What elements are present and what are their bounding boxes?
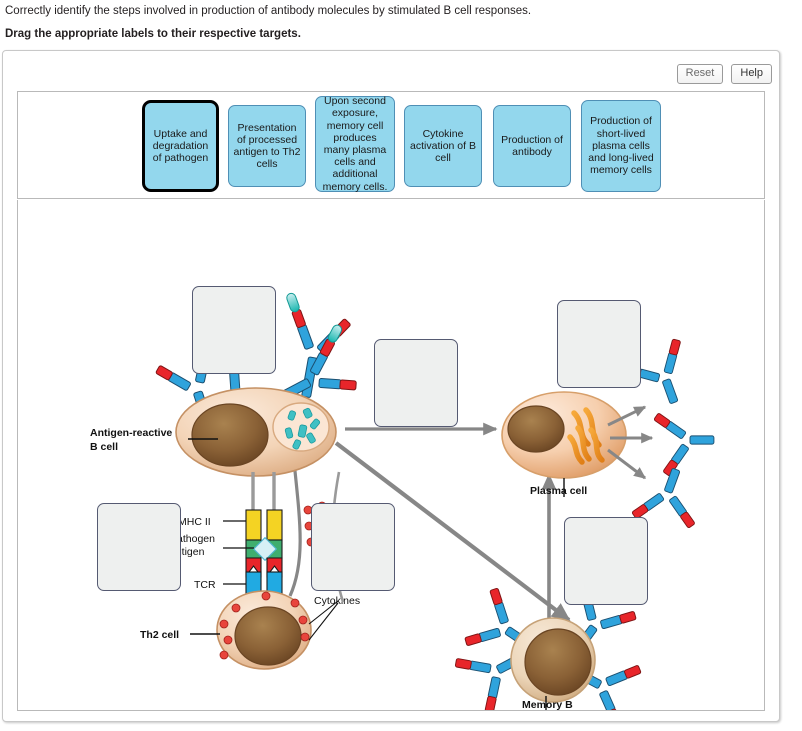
label-bank: Uptake and degradation of pathogenPresen… xyxy=(17,91,765,199)
drag-label-text: Cytokine activation of B cell xyxy=(409,128,477,165)
help-button[interactable]: Help xyxy=(731,64,772,84)
drag-label-text: Production of antibody xyxy=(498,134,566,158)
drag-label-4[interactable]: Cytokine activation of B cell xyxy=(404,105,482,187)
drag-label-5[interactable]: Production of antibody xyxy=(493,105,571,187)
drag-label-text: Upon second exposure, memory cell produc… xyxy=(320,95,390,193)
toolbar: Reset Help xyxy=(677,64,772,84)
secreted-antibody-icon xyxy=(654,413,714,476)
drop-target-1[interactable] xyxy=(192,286,276,374)
drop-target-3[interactable] xyxy=(557,300,641,388)
th2-cell-label: Th2 cell xyxy=(140,629,179,641)
drop-target-5[interactable] xyxy=(311,503,395,591)
activity-frame: Reset Help Uptake and degradation of pat… xyxy=(2,50,780,722)
mhc-ii-label: MHC II xyxy=(178,516,211,528)
drag-label-6[interactable]: Production of short-lived plasma cells a… xyxy=(581,100,661,192)
tcr-label: TCR xyxy=(194,579,216,591)
drag-label-1[interactable]: Uptake and degradation of pathogen xyxy=(142,100,219,192)
drag-label-3[interactable]: Upon second exposure, memory cell produc… xyxy=(315,96,395,192)
cytokines-label: Cytokines xyxy=(314,595,360,607)
question-instruction: Drag the appropriate labels to their res… xyxy=(5,27,785,41)
antigen-reactive-b-cell-label-line2: B cell xyxy=(90,441,118,453)
drop-target-4[interactable] xyxy=(97,503,181,591)
memory-b-cell-label-line2: cell xyxy=(522,710,540,711)
plasma-cell-label: Plasma cell xyxy=(530,485,587,497)
antibody-production-diagram: Antigen-reactive B cell xyxy=(18,200,765,711)
drop-target-6[interactable] xyxy=(564,517,648,605)
diagram-canvas: Antigen-reactive B cell xyxy=(17,200,765,711)
drag-label-text: Presentation of processed antigen to Th2… xyxy=(233,122,301,171)
drag-label-2[interactable]: Presentation of processed antigen to Th2… xyxy=(228,105,306,187)
drag-label-text: Uptake and degradation of pathogen xyxy=(149,128,212,165)
drag-label-text: Production of short-lived plasma cells a… xyxy=(586,115,656,176)
antigen-reactive-b-cell-label-line1: Antigen-reactive xyxy=(90,427,172,439)
question-stem: Correctly identify the steps involved in… xyxy=(5,4,785,18)
reset-button[interactable]: Reset xyxy=(677,64,724,84)
drop-target-2[interactable] xyxy=(374,339,458,427)
label-bank-inner: Uptake and degradation of pathogenPresen… xyxy=(18,92,764,198)
